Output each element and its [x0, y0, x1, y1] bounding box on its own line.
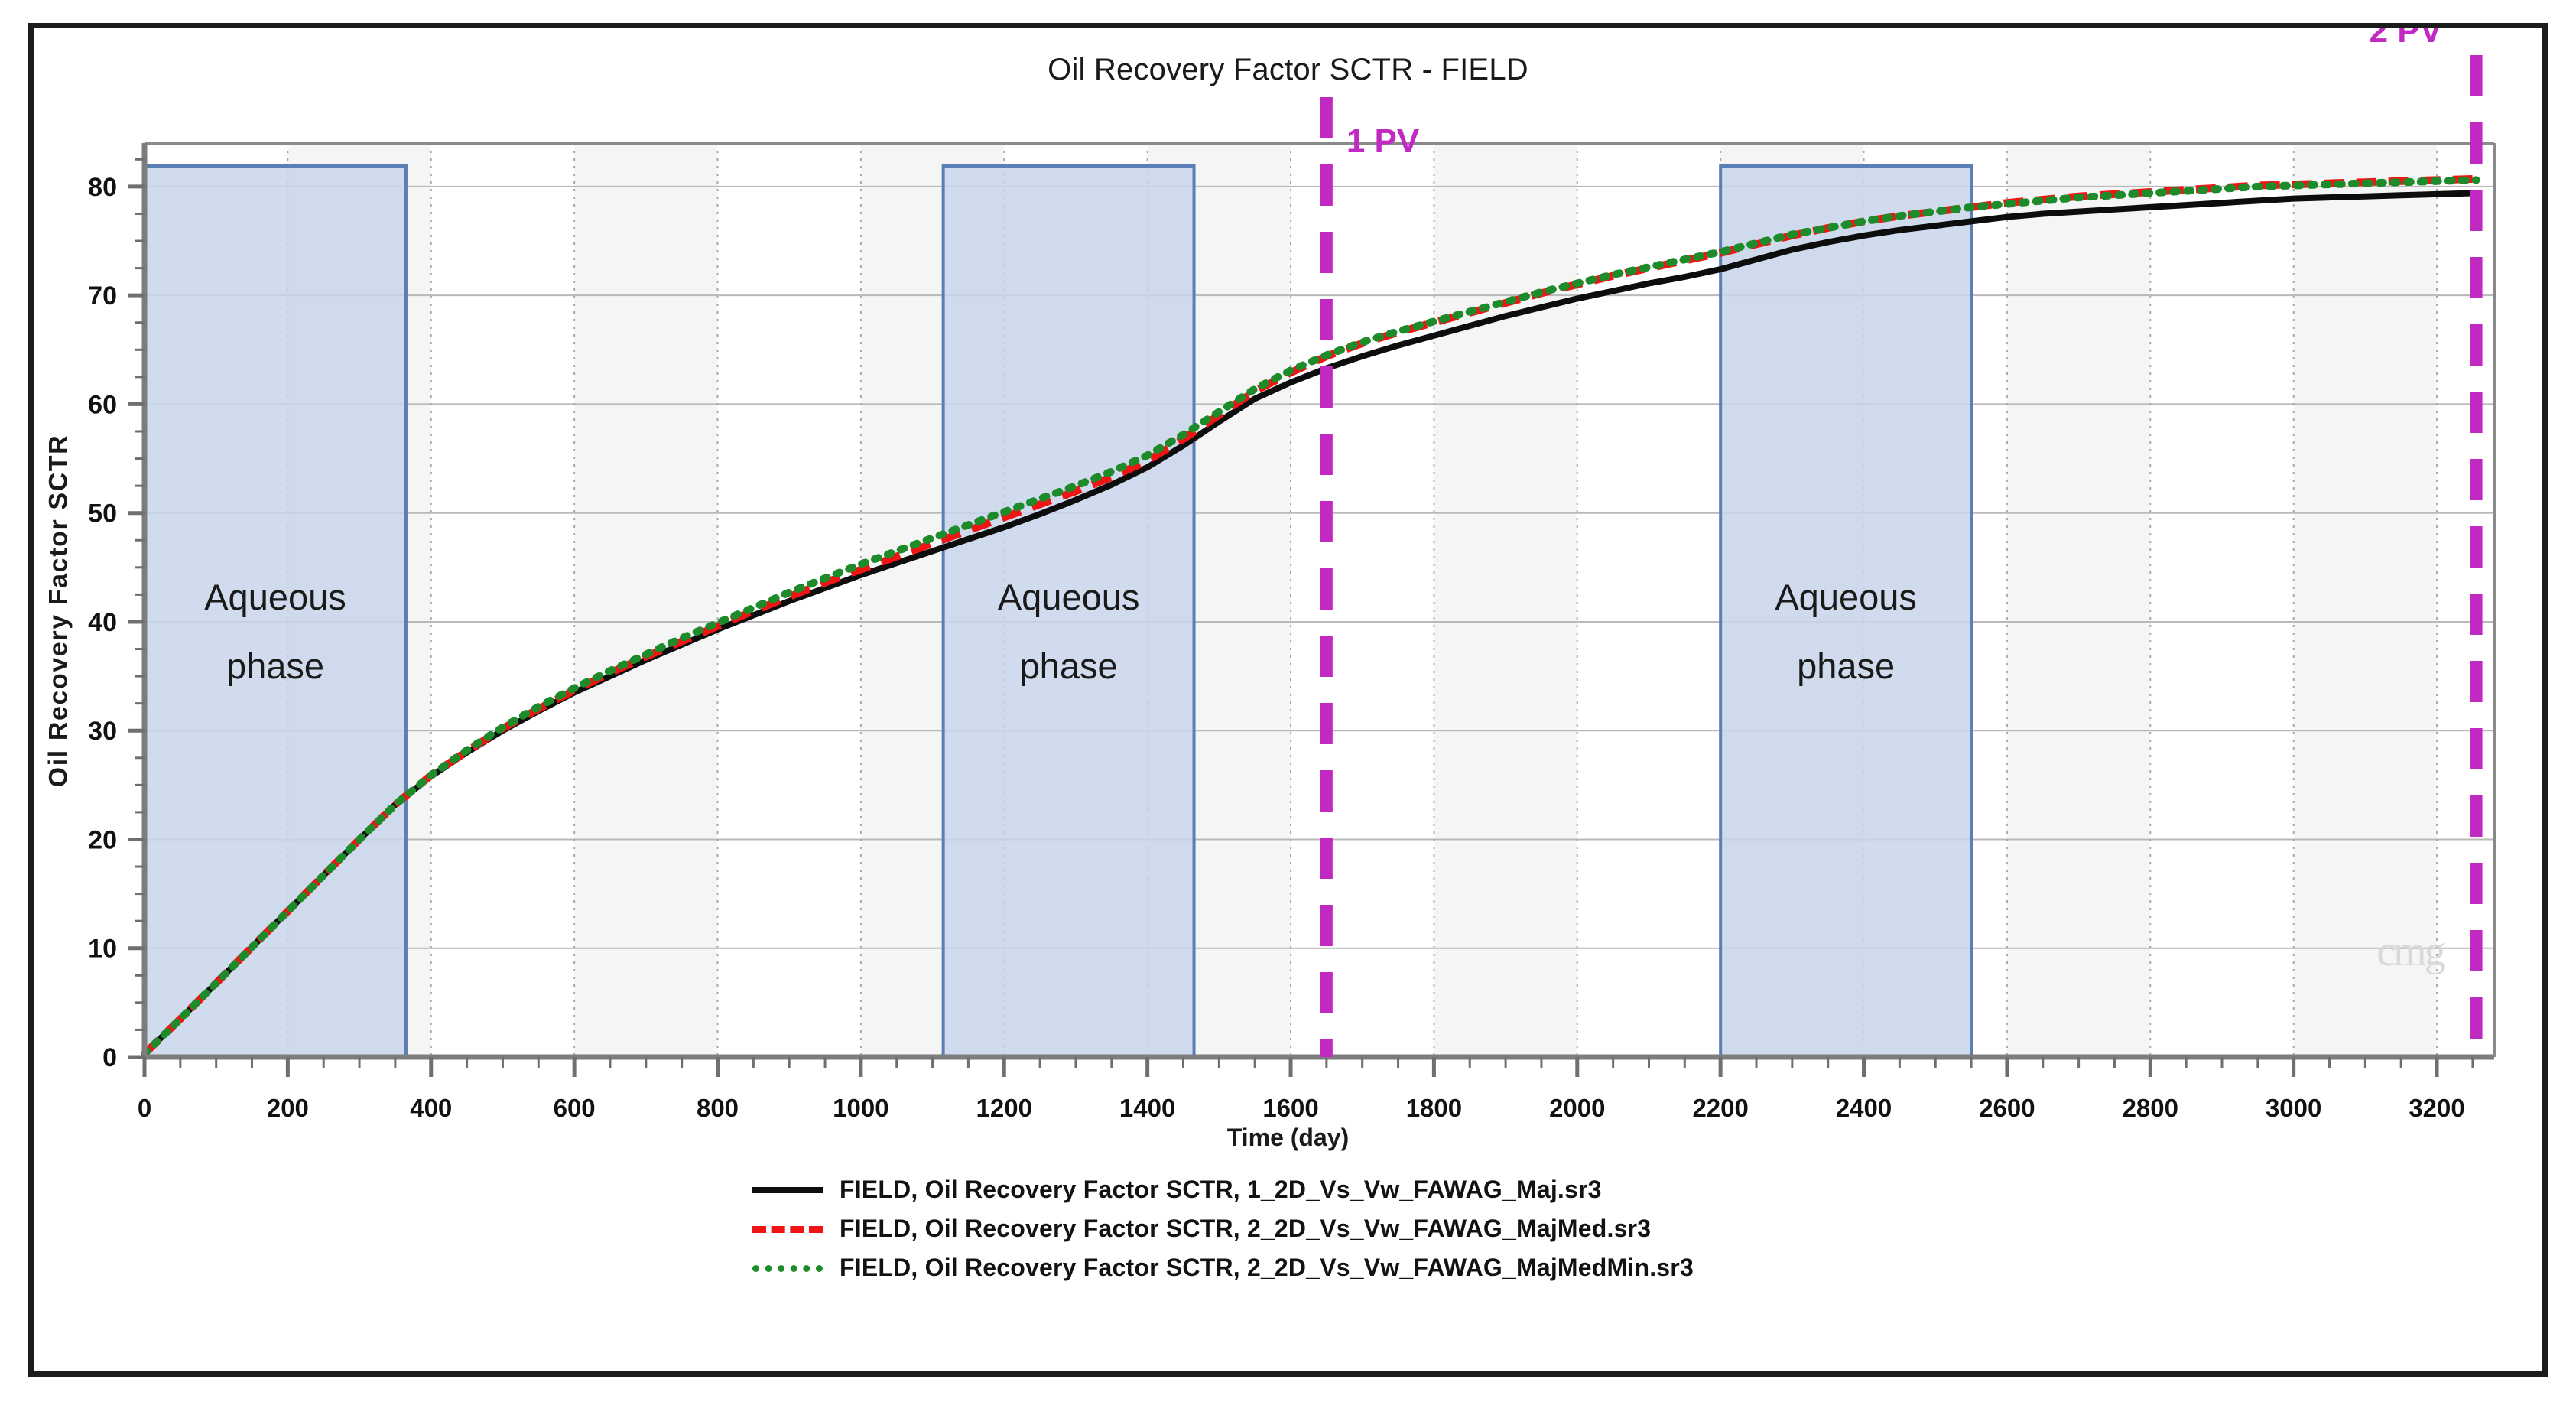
x-tick-label: 3200 [2409, 1094, 2464, 1122]
x-tick-label: 2000 [1549, 1094, 1605, 1122]
x-tick-label: 200 [267, 1094, 309, 1122]
x-tick-label: 3000 [2266, 1094, 2321, 1122]
plot-stripe [2294, 143, 2437, 1057]
pv-marker-label: 2 PV [2370, 28, 2443, 50]
plot-stripe [2007, 143, 2150, 1057]
aqueous-phase-label: Aqueous [1775, 577, 1917, 617]
chart-legend: FIELD, Oil Recovery Factor SCTR, 1_2D_Vs… [34, 1176, 2542, 1293]
legend-item-label: FIELD, Oil Recovery Factor SCTR, 2_2D_Vs… [840, 1254, 1694, 1282]
x-tick-label: 600 [554, 1094, 596, 1122]
x-tick-label: 400 [410, 1094, 452, 1122]
legend-item[interactable]: FIELD, Oil Recovery Factor SCTR, 2_2D_Vs… [34, 1254, 2542, 1282]
x-tick-label: 1600 [1262, 1094, 1318, 1122]
cmg-watermark: cmg [2376, 928, 2444, 975]
y-tick-label: 80 [88, 173, 117, 202]
x-tick-label: 2600 [1979, 1094, 2035, 1122]
y-tick-label: 50 [88, 499, 117, 529]
y-tick-label: 20 [88, 825, 117, 854]
y-tick-label: 60 [88, 390, 117, 419]
x-tick-label: 1200 [976, 1094, 1032, 1122]
plot-stripe [574, 143, 717, 1057]
chart-canvas: AqueousphaseAqueousphaseAqueousphasecmg0… [34, 28, 2542, 1371]
figure-frame: Oil Recovery Factor SCTR - FIELD Oil Rec… [28, 23, 2548, 1377]
screenshot-root: Oil Recovery Factor SCTR - FIELD Oil Rec… [0, 0, 2576, 1402]
aqueous-phase-label: phase [226, 646, 324, 686]
x-tick-label: 2200 [1692, 1094, 1748, 1122]
x-tick-label: 800 [697, 1094, 739, 1122]
legend-item[interactable]: FIELD, Oil Recovery Factor SCTR, 2_2D_Vs… [34, 1215, 2542, 1243]
y-tick-label: 40 [88, 608, 117, 637]
x-tick-label: 0 [138, 1094, 151, 1122]
pv-marker-label: 1 PV [1346, 122, 1420, 160]
y-tick-label: 0 [102, 1043, 117, 1072]
aqueous-phase-label: Aqueous [998, 577, 1140, 617]
aqueous-phase-label: phase [1797, 646, 1895, 686]
y-tick-label: 30 [88, 717, 117, 746]
x-tick-label: 1800 [1406, 1094, 1462, 1122]
x-tick-label: 2400 [1836, 1094, 1892, 1122]
aqueous-phase-label: Aqueous [204, 577, 346, 617]
y-tick-label: 10 [88, 935, 117, 964]
x-tick-label: 1000 [833, 1094, 888, 1122]
legend-item-label: FIELD, Oil Recovery Factor SCTR, 1_2D_Vs… [840, 1176, 1602, 1204]
plot-stripe [1434, 143, 1577, 1057]
legend-item-label: FIELD, Oil Recovery Factor SCTR, 2_2D_Vs… [840, 1215, 1651, 1243]
x-tick-label: 1400 [1119, 1094, 1175, 1122]
aqueous-phase-label: phase [1020, 646, 1118, 686]
legend-item[interactable]: FIELD, Oil Recovery Factor SCTR, 1_2D_Vs… [34, 1176, 2542, 1204]
y-tick-label: 70 [88, 281, 117, 311]
plot-area: AqueousphaseAqueousphaseAqueousphasecmg0… [34, 28, 2542, 1371]
x-tick-label: 2800 [2123, 1094, 2178, 1122]
